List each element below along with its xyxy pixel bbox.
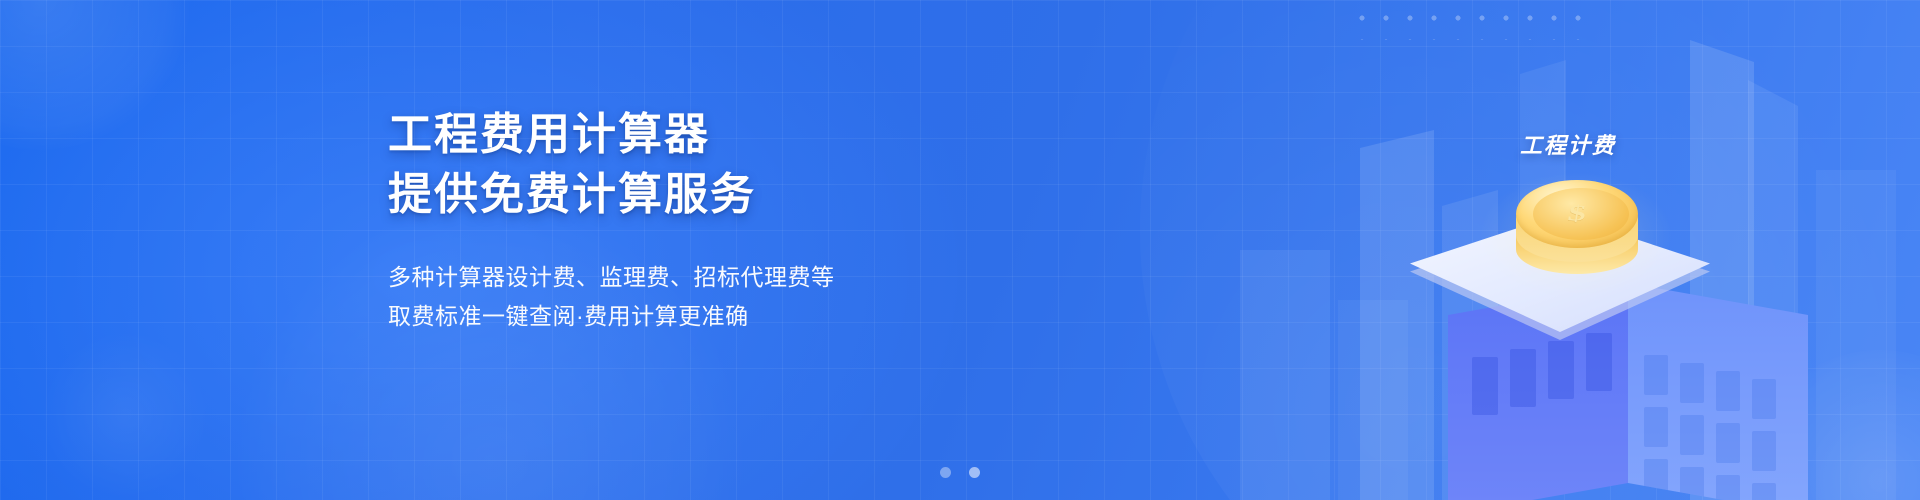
background-building-8: [1816, 170, 1896, 500]
carousel-dot-2[interactable]: [969, 467, 980, 478]
decorative-circle-top-left: [0, 0, 190, 150]
subtitle-line-1: 多种计算器设计费、监理费、招标代理费等: [388, 258, 948, 297]
building-window: [1716, 475, 1740, 500]
headline-line-2: 提供免费计算服务: [388, 170, 948, 220]
hero-illustration: $ 工程计费: [1220, 0, 1920, 500]
carousel-dots[interactable]: [0, 467, 1920, 478]
building-window: [1548, 341, 1574, 399]
building-window: [1680, 363, 1704, 403]
subtitle-line-2: 取费标准一键查阅·费用计算更准确: [388, 297, 948, 336]
background-building-1: [1240, 250, 1330, 500]
building-window: [1644, 407, 1668, 447]
coin-stack-icon: $: [1512, 180, 1642, 288]
building-window: [1680, 415, 1704, 455]
hero-banner: 工程费用计算器 提供免费计算服务 多种计算器设计费、监理费、招标代理费等 取费标…: [0, 0, 1920, 500]
building-window: [1644, 355, 1668, 395]
building-window: [1644, 459, 1668, 499]
building-window: [1752, 483, 1776, 500]
dollar-sign-icon: $: [1514, 200, 1640, 226]
building-window: [1510, 349, 1536, 407]
hero-text-block: 工程费用计算器 提供免费计算服务 多种计算器设计费、监理费、招标代理费等 取费标…: [388, 110, 948, 336]
background-building-3: [1360, 130, 1434, 500]
building-window: [1586, 333, 1612, 391]
illustration-badge-label: 工程计费: [1520, 128, 1616, 160]
building-window: [1716, 423, 1740, 463]
building-window: [1472, 357, 1498, 415]
headline-line-1: 工程费用计算器: [388, 110, 948, 160]
coin-top-face: $: [1516, 180, 1638, 248]
building-window: [1716, 371, 1740, 411]
building-window: [1752, 431, 1776, 471]
carousel-dot-1[interactable]: [940, 467, 951, 478]
building-window: [1752, 379, 1776, 419]
